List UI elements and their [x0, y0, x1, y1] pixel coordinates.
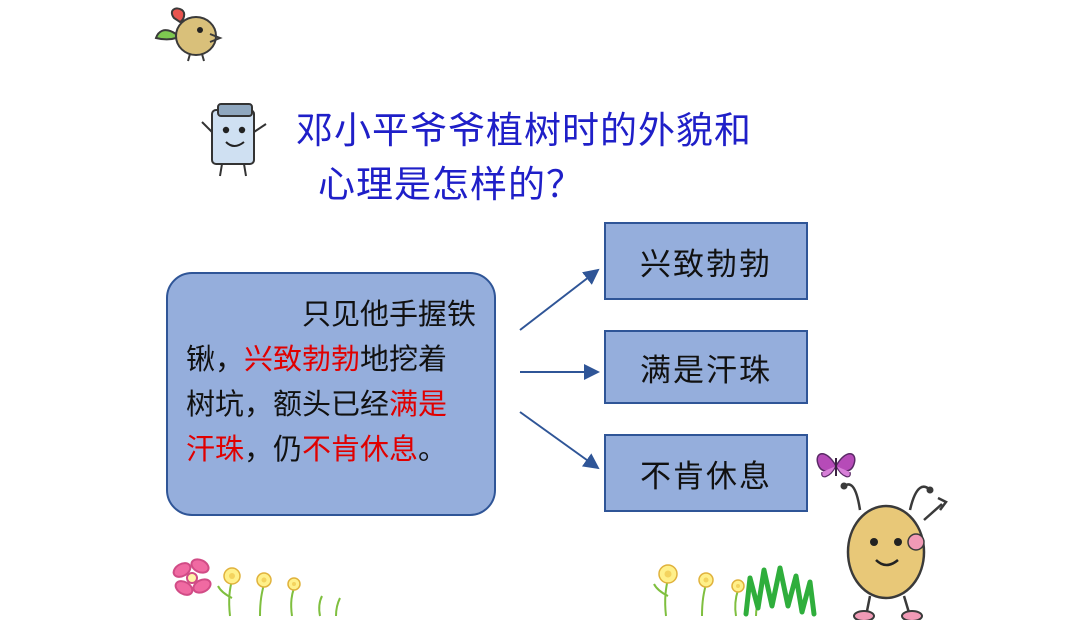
arrow-to-answer-1 — [520, 270, 598, 330]
answer-box-2-label: 满是汗珠 — [640, 345, 772, 390]
paragraph-segment-2-highlight: 兴致勃勃 — [244, 342, 360, 376]
title-line-2: 心理是怎样的？ — [296, 158, 916, 212]
page-title: 邓小平爷爷植树时的外貌和 心理是怎样的？ — [296, 104, 916, 212]
butterfly-icon — [812, 442, 860, 488]
paragraph-segment-7: 。 — [418, 432, 447, 466]
answer-box-3: 不肯休息 — [604, 434, 808, 512]
arrow-to-answer-3 — [520, 412, 598, 468]
answer-box-1: 兴致勃勃 — [604, 222, 808, 300]
answer-box-1-label: 兴致勃勃 — [640, 239, 772, 284]
grass-scribble-icon — [740, 556, 820, 618]
flowers-left-icon — [160, 548, 350, 620]
paragraph-segment-6-highlight: 不肯休息 — [302, 432, 418, 466]
title-line-1: 邓小平爷爷植树时的外貌和 — [296, 104, 916, 158]
slide-canvas: 邓小平爷爷植树时的外貌和 心理是怎样的？ 只见他手握铁锹，兴致勃勃地挖着树坑，额… — [0, 0, 1080, 623]
book-character-cartoon-icon — [196, 96, 274, 178]
paragraph-segment-5: ，仍 — [244, 432, 302, 466]
bird-cartoon-icon — [152, 4, 226, 62]
egg-character-cartoon-icon — [826, 480, 952, 620]
paragraph-box: 只见他手握铁锹，兴致勃勃地挖着树坑，额头已经满是汗珠，仍不肯休息。 — [166, 272, 496, 516]
answer-box-3-label: 不肯休息 — [640, 451, 772, 496]
answer-box-2: 满是汗珠 — [604, 330, 808, 404]
paragraph-text: 只见他手握铁锹，兴致勃勃地挖着树坑，额头已经满是汗珠，仍不肯休息。 — [186, 292, 476, 472]
flowers-middle-icon — [640, 548, 770, 620]
